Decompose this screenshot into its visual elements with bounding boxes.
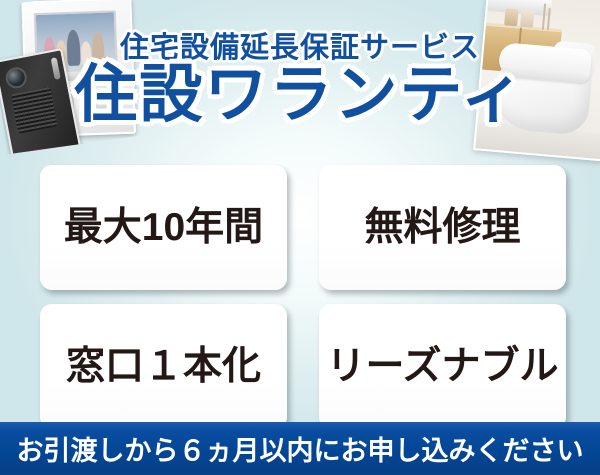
bottom-notice-text: お引渡しから６ヵ月以内にお申し込みください: [17, 429, 584, 468]
feature-box-single-contact: 窓口１本化: [40, 304, 287, 429]
page-title: 住設ワランティ: [0, 62, 600, 128]
feature-label: 無料修理: [364, 208, 520, 247]
feature-label: リーズナブル: [326, 347, 558, 386]
promo-banner: 住宅設備延長保証サービス 住設ワランティ 最大10年間 無料修理 窓口１本化 リ…: [0, 0, 600, 475]
feature-box-free-repair: 無料修理: [319, 165, 566, 290]
feature-label: 窓口１本化: [66, 347, 261, 386]
bottom-notice-strip: お引渡しから６ヵ月以内にお申し込みください: [0, 422, 600, 475]
feature-box-reasonable: リーズナブル: [319, 304, 566, 429]
feature-label: 最大10年間: [64, 208, 263, 247]
feature-box-max-years: 最大10年間: [40, 165, 287, 290]
feature-grid: 最大10年間 無料修理 窓口１本化 リーズナブル: [40, 165, 566, 429]
door-station-indicator: [25, 149, 41, 155]
